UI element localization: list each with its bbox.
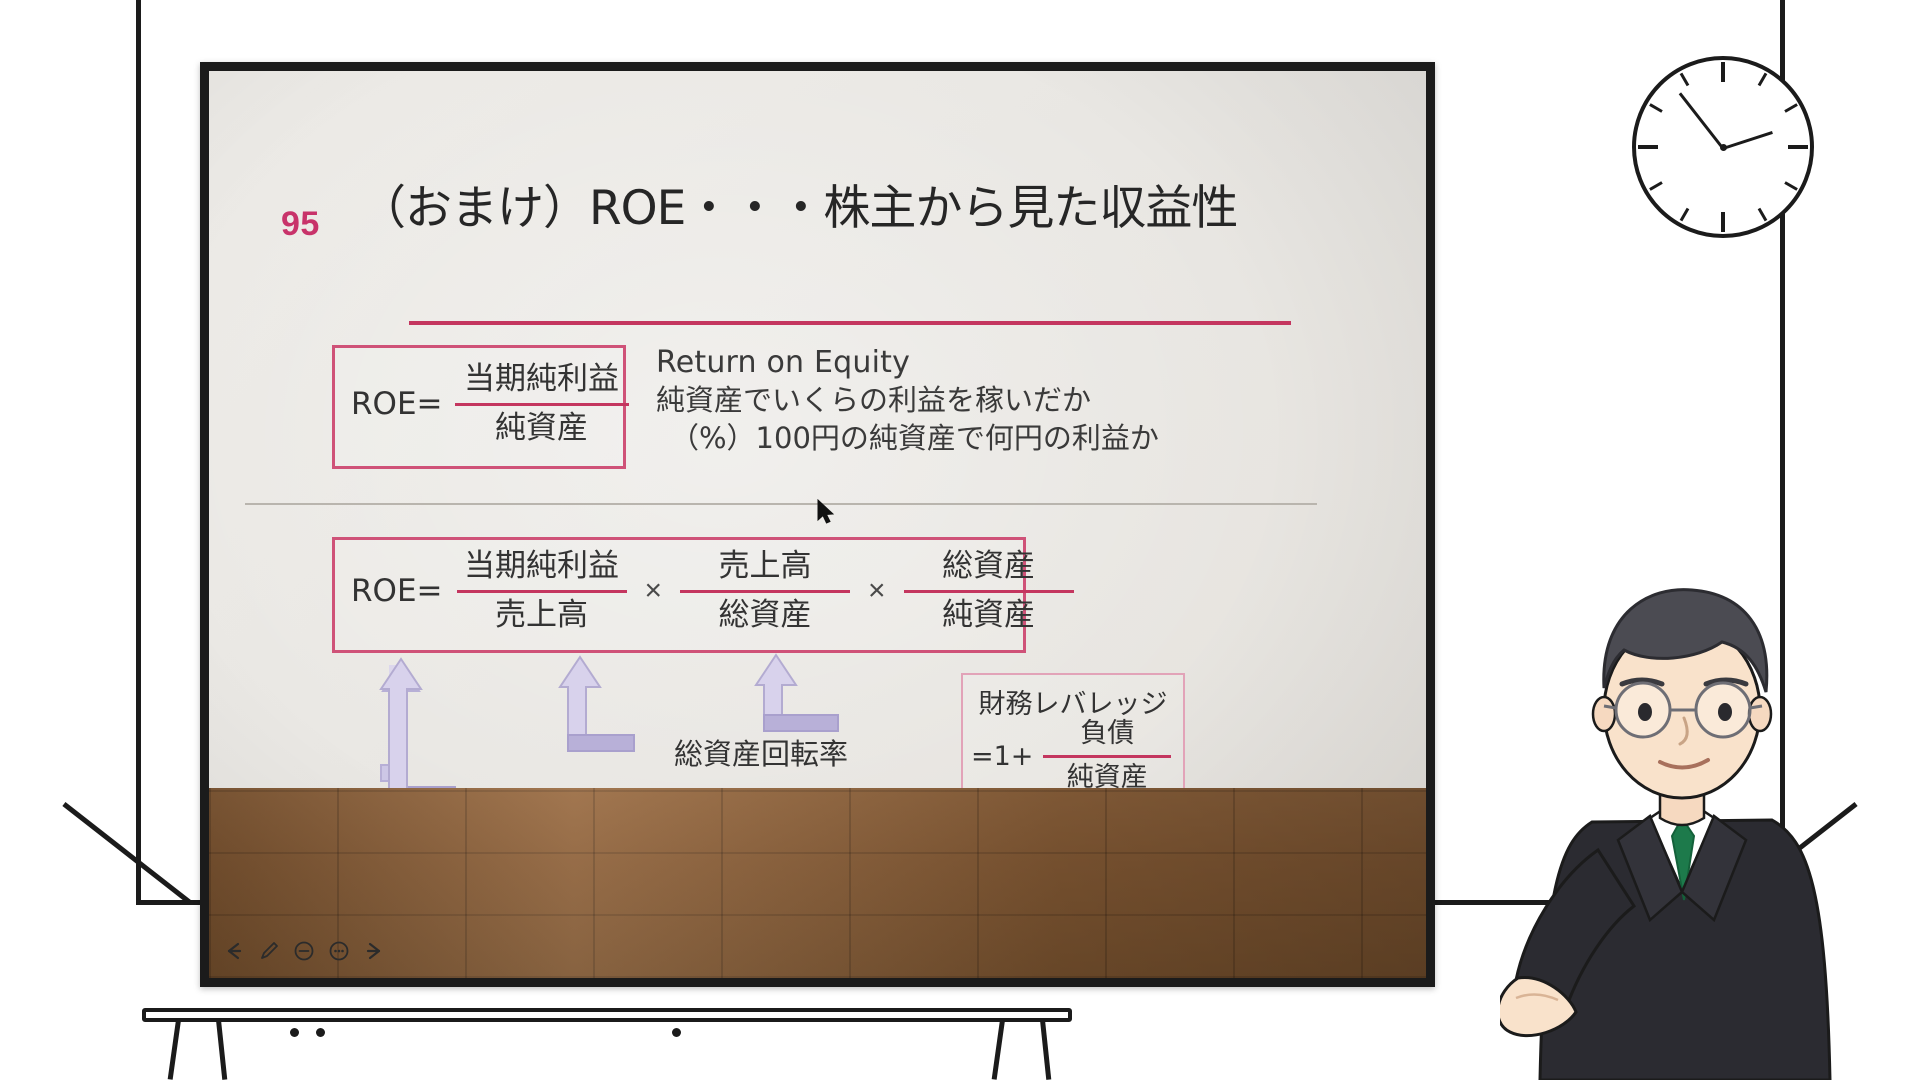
table-dot-1: [290, 1028, 299, 1037]
slide-player-controls[interactable]: [221, 938, 387, 964]
minus-icon[interactable]: [291, 938, 317, 964]
roe-definition-formula: ROE= 当期純利益 純資産: [351, 360, 633, 448]
roe-description-line-3: （%）100円の純資産で何円の利益か: [656, 420, 1159, 458]
factor-3-fraction: 総資産 純資産: [900, 547, 1078, 635]
factor-1-denominator: 売上高: [453, 596, 631, 636]
roe-description-line-2: 純資産でいくらの利益を稼いだか: [656, 382, 1159, 420]
leverage-fraction: 負債 純資産: [1039, 717, 1175, 795]
roe-denominator: 純資産: [451, 409, 633, 449]
roe-fraction: 当期純利益 純資産: [451, 360, 633, 448]
scene-stage: 95 （おまけ）ROE・・・株主から見た収益性 ROE= 当期純利益 純資産: [0, 0, 1920, 1080]
page-title: （おまけ）ROE・・・株主から見た収益性: [359, 181, 1259, 236]
roe-definition-box: ROE= 当期純利益 純資産: [332, 345, 626, 469]
title-underline: [409, 321, 1291, 325]
roe-numerator: 当期純利益: [451, 360, 633, 400]
section-divider: [245, 503, 1317, 505]
roe-decomposition-formula: ROE= 当期純利益 売上高 × 売上高 総資産 ×: [351, 547, 1078, 635]
roe-decomposition-box: ROE= 当期純利益 売上高 × 売上高 総資産 ×: [332, 537, 1026, 653]
factor-3-numerator: 総資産: [900, 547, 1078, 587]
wall-left: [0, 0, 136, 1080]
fraction-bar-icon: [680, 590, 850, 593]
table-top: [142, 1008, 1072, 1022]
table-leg-3: [992, 1020, 1005, 1080]
factor-2-fraction: 売上高 総資産: [676, 547, 854, 635]
slide-surface: 95 （おまけ）ROE・・・株主から見た収益性 ROE= 当期純利益 純資産: [209, 71, 1426, 978]
back-icon[interactable]: [221, 938, 247, 964]
clock-center-pin: [1720, 144, 1727, 151]
fraction-bar-icon: [904, 590, 1074, 593]
wall-clock: [1632, 56, 1814, 238]
slide-title-row: 95 （おまけ）ROE・・・株主から見た収益性: [281, 181, 1396, 236]
multiply-operator-1: ×: [641, 574, 667, 608]
arrow-financial-leverage-icon: [742, 651, 852, 741]
presenter-avatar: [1500, 560, 1900, 1080]
table-dot-2: [316, 1028, 325, 1037]
factor-3-denominator: 純資産: [900, 596, 1078, 636]
table-leg-2: [216, 1020, 227, 1080]
multiply-operator-2: ×: [864, 574, 890, 608]
mouse-cursor: [817, 499, 837, 530]
forward-icon[interactable]: [361, 938, 387, 964]
fraction-bar-icon: [457, 590, 627, 593]
factor-2-numerator: 売上高: [676, 547, 854, 587]
leverage-eq1-prefix: =1+: [971, 741, 1033, 772]
roe-equals-label: ROE=: [351, 386, 443, 422]
financial-leverage-equation-1: =1+ 負債 純資産: [971, 717, 1175, 795]
wooden-floor-strip: [209, 788, 1426, 978]
fraction-bar-icon: [455, 403, 629, 406]
slide-number: 95: [281, 205, 320, 244]
whiteboard: 95 （おまけ）ROE・・・株主から見た収益性 ROE= 当期純利益 純資産: [200, 62, 1435, 987]
roe-description: Return on Equity 純資産でいくらの利益を稼いだか （%）100円…: [656, 343, 1159, 458]
factor-1-numerator: 当期純利益: [453, 547, 631, 587]
roe-decomp-equals-label: ROE=: [351, 573, 443, 609]
table-leg-1: [168, 1020, 181, 1080]
arrow-asset-turnover-icon: [546, 651, 656, 761]
roe-description-line-1: Return on Equity: [656, 345, 910, 380]
fraction-bar-icon: [1043, 755, 1171, 758]
table-dot-3: [672, 1028, 681, 1037]
factor-1-fraction: 当期純利益 売上高: [453, 547, 631, 635]
wall-edge-left: [136, 0, 141, 905]
more-icon[interactable]: [326, 938, 352, 964]
pen-icon[interactable]: [256, 938, 282, 964]
factor-2-denominator: 総資産: [676, 596, 854, 636]
arrow-profit-margin-icon: [367, 651, 477, 811]
financial-leverage-title: 財務レバレッジ: [963, 682, 1183, 721]
table-leg-4: [1040, 1020, 1051, 1080]
leverage-numerator: 負債: [1039, 717, 1175, 752]
